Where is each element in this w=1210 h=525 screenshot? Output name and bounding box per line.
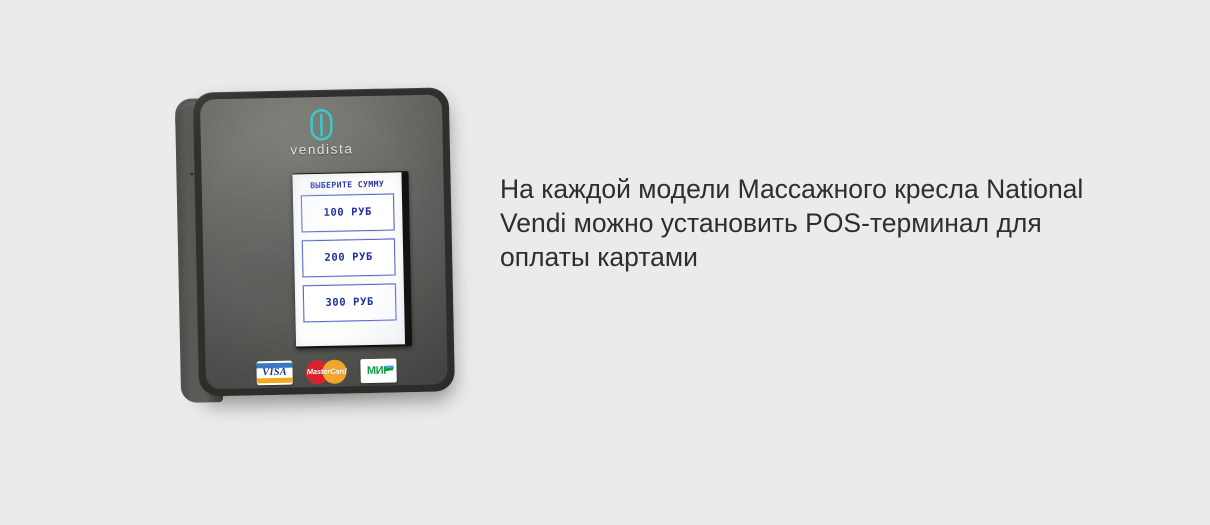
device-front-bezel: vendista ВЫБЕРИТЕ СУММУ 100 РУБ 2 bbox=[193, 87, 455, 396]
mir-flag-accent bbox=[385, 365, 394, 370]
amount-button-100[interactable]: 100 РУБ bbox=[301, 194, 395, 233]
vendista-u-mark-icon bbox=[308, 109, 335, 142]
terminal-screen-bezel: ВЫБЕРИТЕ СУММУ 100 РУБ 200 РУБ 300 РУБ bbox=[292, 171, 412, 348]
mastercard-wordmark: MasterCard bbox=[306, 367, 348, 375]
pos-terminal-device: vendista ВЫБЕРИТЕ СУММУ 100 РУБ 2 bbox=[166, 75, 473, 421]
amount-button-200[interactable]: 200 РУБ bbox=[302, 239, 396, 278]
vendista-brand-name: vendista bbox=[201, 140, 443, 159]
payment-logos-row: VISA MasterCard МИР bbox=[205, 356, 447, 387]
device-side-pinhole-icon bbox=[190, 173, 193, 176]
amount-button-300[interactable]: 300 РУБ bbox=[303, 284, 397, 323]
device-front-panel: vendista ВЫБЕРИТЕ СУММУ 100 РУБ 2 bbox=[200, 94, 448, 389]
caption-line-2: Vendi можно установить POS-терминал для bbox=[500, 206, 1180, 240]
caption-block: На каждой модели Массажного кресла Natio… bbox=[500, 172, 1180, 274]
amount-button-label: 100 РУБ bbox=[323, 207, 372, 219]
amount-button-list: 100 РУБ 200 РУБ 300 РУБ bbox=[293, 193, 405, 322]
page-root: vendista ВЫБЕРИТЕ СУММУ 100 РУБ 2 bbox=[0, 0, 1210, 525]
caption-line-3: оплаты картами bbox=[500, 240, 1180, 274]
visa-card-icon: VISA bbox=[256, 361, 292, 386]
screen-title: ВЫБЕРИТЕ СУММУ bbox=[293, 179, 402, 189]
terminal-screen[interactable]: ВЫБЕРИТЕ СУММУ 100 РУБ 200 РУБ 300 РУБ bbox=[292, 172, 405, 346]
vendista-brand: vendista bbox=[200, 106, 443, 159]
amount-button-label: 300 РУБ bbox=[325, 297, 374, 309]
visa-bottom-stripe bbox=[257, 378, 293, 384]
caption-line-1: На каждой модели Массажного кресла Natio… bbox=[500, 172, 1180, 206]
mir-icon: МИР bbox=[360, 358, 396, 383]
pos-terminal-image: vendista ВЫБЕРИТЕ СУММУ 100 РУБ 2 bbox=[170, 78, 470, 418]
amount-button-label: 200 РУБ bbox=[324, 252, 373, 264]
mastercard-icon: MasterCard bbox=[305, 358, 348, 385]
